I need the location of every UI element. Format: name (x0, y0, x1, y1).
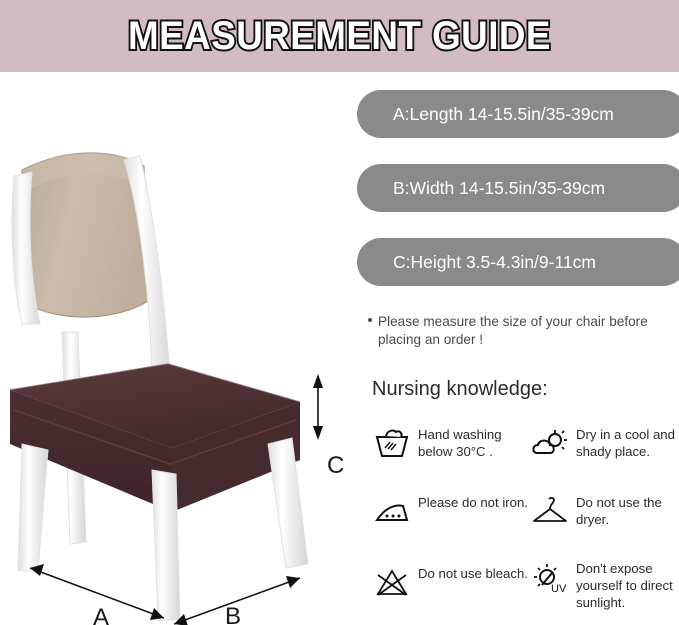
svg-text:UV: UV (551, 583, 567, 595)
measurement-pill-length: A:Length 14-15.5in/35-39cm (357, 90, 679, 138)
measurement-guide-page: MEASUREMENT GUIDE (0, 0, 679, 625)
measure-note: Please measure the size of your chair be… (378, 313, 670, 350)
chair-svg (0, 72, 355, 625)
care-item-no-bleach: Do not use bleach. (370, 563, 530, 603)
dimension-label-b: B (225, 603, 241, 625)
care-text: Do not use the dryer. (572, 492, 678, 529)
care-text: Do not use bleach. (414, 563, 528, 583)
hand-wash-icon (370, 424, 414, 464)
care-text: Hand washing below 30°C . (414, 424, 530, 461)
measurement-pill-height: C:Height 3.5-4.3in/9-11cm (357, 238, 679, 286)
care-item-no-iron: Please do not iron. (370, 492, 530, 532)
no-bleach-icon (370, 563, 414, 603)
nursing-knowledge-heading: Nursing knowledge: (372, 378, 548, 401)
care-text: Please do not iron. (414, 492, 528, 512)
care-item-dry-shade: Dry in a cool and shady place. (528, 424, 678, 464)
care-item-hand-wash: Hand washing below 30°C . (370, 424, 530, 464)
chair-illustration: A B C (0, 72, 355, 625)
uv-sun-icon: UV (528, 558, 572, 598)
care-item-no-dryer: Do not use the dryer. (528, 492, 678, 532)
care-text: Dry in a cool and shady place. (572, 424, 678, 461)
care-text: Don't expose yourself to direct sunlight… (572, 558, 679, 612)
hanger-icon (528, 492, 572, 532)
page-title: MEASUREMENT GUIDE (27, 14, 652, 59)
note-bullet-icon (368, 318, 372, 322)
dimension-label-c: C (327, 452, 344, 480)
sun-cloud-icon (528, 424, 572, 464)
no-iron-icon (370, 492, 414, 532)
care-item-no-sunlight: UV Don't expose yourself to direct sunli… (528, 558, 679, 612)
dimension-label-a: A (93, 604, 109, 625)
measurement-pill-width: B:Width 14-15.5in/35-39cm (357, 164, 679, 212)
